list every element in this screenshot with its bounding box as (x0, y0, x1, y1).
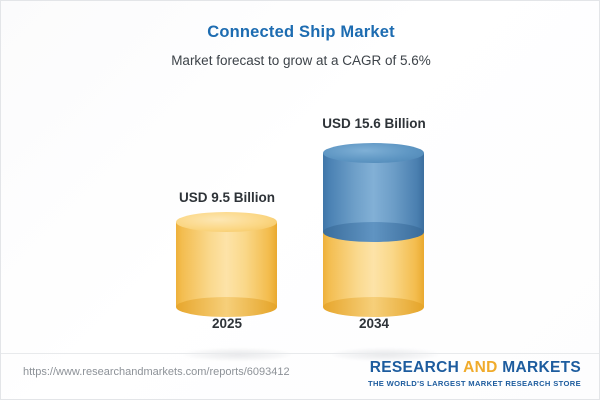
bar-value-label-2034: USD 15.6 Billion (284, 116, 464, 131)
bar-cap-top (323, 143, 424, 163)
bar-cap-bottom (176, 297, 277, 317)
bar-category-label-2034: 2034 (284, 316, 464, 331)
chart-card: Connected Ship Market Market forecast to… (0, 0, 600, 400)
bar-shadow (184, 348, 292, 361)
bar-body (176, 222, 277, 307)
bar-segment-2034-growth (323, 153, 424, 232)
logo-word-research: RESEARCH (370, 359, 459, 376)
logo-word-and: AND (463, 359, 497, 376)
brand-logo[interactable]: RESEARCH AND MARKETS THE WORLD'S LARGEST… (368, 359, 581, 388)
chart-plot-area: USD 9.5 Billion 2025 USD 15.6 Billion (1, 1, 600, 353)
bar-cap-top (176, 212, 277, 232)
footer-divider (1, 353, 600, 354)
logo-word-markets: MARKETS (502, 359, 581, 376)
logo-tagline: THE WORLD'S LARGEST MARKET RESEARCH STOR… (368, 379, 581, 388)
bar-cap-bottom (323, 297, 424, 317)
source-url[interactable]: https://www.researchandmarkets.com/repor… (23, 366, 290, 378)
bar-cap-bottom (323, 222, 424, 242)
logo-wordmark: RESEARCH AND MARKETS (368, 359, 581, 377)
bar-segment-2025-base (176, 222, 277, 307)
bar-body (323, 153, 424, 232)
bar-group-2034: USD 15.6 Billion 2034 (323, 48, 424, 353)
bar-group-2025: USD 9.5 Billion 2025 (176, 48, 277, 353)
bar-value-label-2025: USD 9.5 Billion (137, 190, 317, 205)
